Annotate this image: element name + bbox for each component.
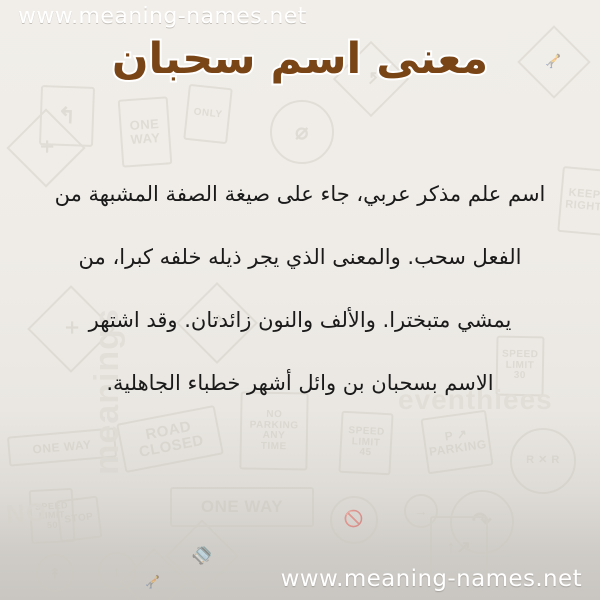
page-title: معنى اسم سحبان xyxy=(0,31,600,87)
watermark-top: www.meaning-names.net xyxy=(18,4,307,29)
meaning-line: الفعل سحب. والمعنى الذي يجر ذيله خلفه كب… xyxy=(20,226,580,289)
meaning-line: يمشي متبخترا. والألف والنون زائدتان. وقد… xyxy=(20,289,580,352)
meaning-line: اسم علم مذكر عربي، جاء على صيغة الصفة ال… xyxy=(20,163,580,226)
watermark-bottom: www.meaning-names.net xyxy=(281,566,582,592)
meaning-line: الاسم بسحبان بن وائل أشهر خطباء الجاهلية… xyxy=(20,352,580,415)
image-canvas: ONEWAYONE WAYONE WAYROADCLOSEDNOPARKINGA… xyxy=(0,0,600,600)
name-meaning-text: اسم علم مذكر عربي، جاء على صيغة الصفة ال… xyxy=(20,163,580,415)
